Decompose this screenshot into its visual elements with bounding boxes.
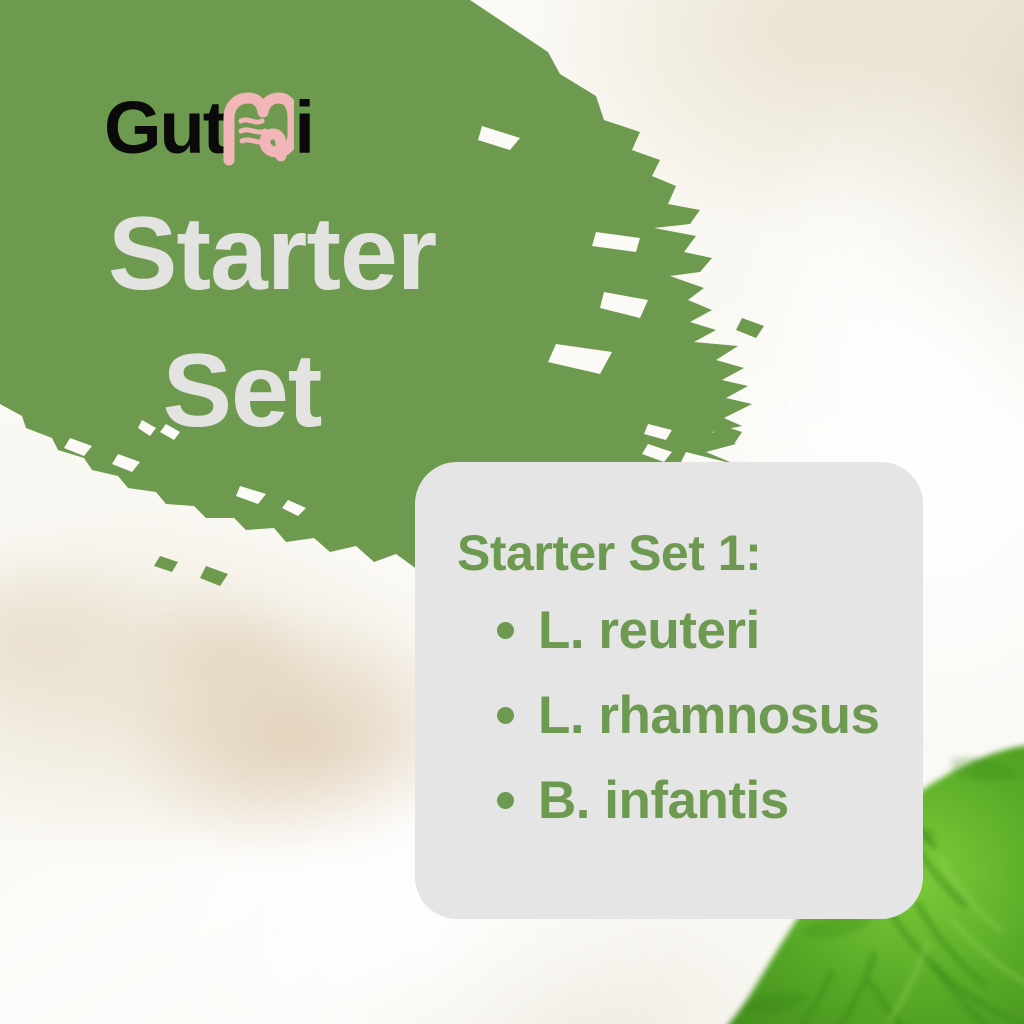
bullet-dot-icon	[497, 707, 514, 724]
page-title-line-2: Set	[0, 323, 570, 460]
starter-set-card: Starter Set 1: L. reuteri L. rhamnosus B…	[415, 462, 923, 919]
list-item-label: L. reuteri	[538, 604, 760, 657]
bullet-dot-icon	[497, 622, 514, 639]
logo-text-i: i	[294, 91, 315, 165]
card-title: Starter Set 1:	[457, 528, 923, 578]
list-item-label: B. infantis	[538, 774, 789, 827]
strain-list: L. reuteri L. rhamnosus B. infantis	[441, 604, 923, 827]
page-title-line-1: Starter	[0, 186, 570, 323]
gut-intestine-icon	[222, 90, 294, 166]
poster-canvas: Gut i Starter Set Starter Set 1: L. reut…	[0, 0, 1024, 1024]
logo-text-gut: Gut	[104, 91, 225, 165]
bullet-dot-icon	[497, 792, 514, 809]
list-item: B. infantis	[441, 774, 923, 827]
list-item-label: L. rhamnosus	[538, 689, 880, 742]
brand-logo[interactable]: Gut i	[104, 88, 315, 168]
page-title: Starter Set	[0, 186, 570, 461]
list-item: L. reuteri	[441, 604, 923, 657]
list-item: L. rhamnosus	[441, 689, 923, 742]
